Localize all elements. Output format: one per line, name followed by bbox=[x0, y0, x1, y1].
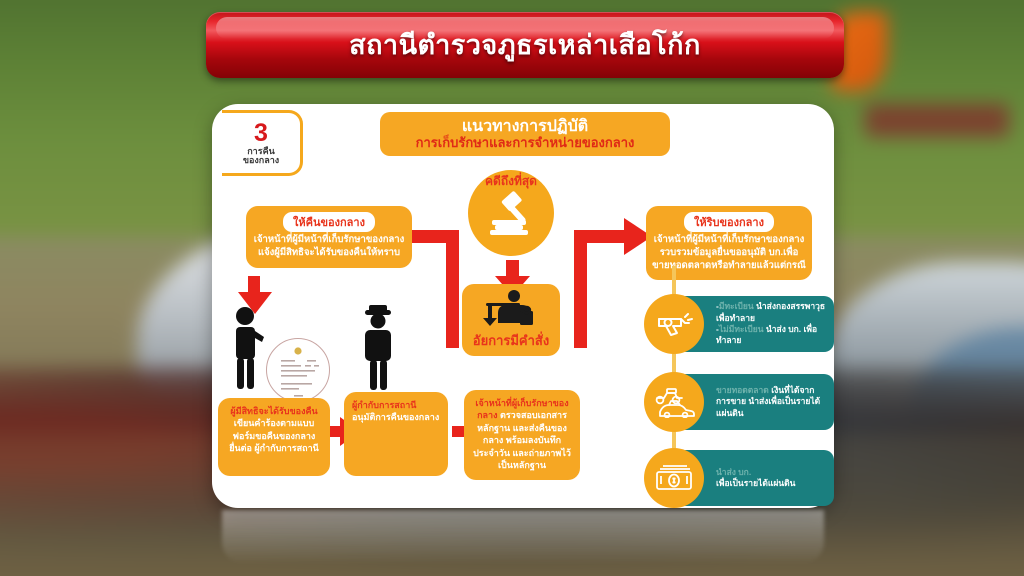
gun-icon bbox=[655, 309, 693, 339]
gavel-icon bbox=[483, 189, 539, 235]
police-officer-silhouette-icon bbox=[358, 305, 400, 391]
heading-line-2: การเก็บรักษาและการจำหน่ายของกลาง bbox=[416, 136, 635, 150]
process-box-request: ผู้มีสิทธิจะได้รับของคืน เขียนคำร้องตามแ… bbox=[218, 398, 330, 476]
request-form-document-icon bbox=[266, 338, 330, 402]
step-badge-line2: ของกลาง bbox=[243, 156, 279, 165]
disposal-destroy-line1-muted: มีทะเบียน bbox=[719, 301, 754, 311]
infographic-heading: แนวทางการปฏิบัติ การเก็บรักษาและการจำหน่… bbox=[380, 112, 670, 156]
case-final-label: คดีถึงที่สุด bbox=[485, 175, 537, 187]
disposal-destroy-line2-muted: ไม่มีทะเบียน bbox=[719, 324, 764, 334]
title-banner: สถานีตำรวจภูธรเหล่าเสือโก้ก bbox=[206, 12, 844, 78]
citizen-silhouette-icon bbox=[228, 305, 270, 391]
step-badge-number: 3 bbox=[254, 120, 268, 146]
disposal-auction-bubble bbox=[644, 372, 704, 432]
page-title: สถานีตำรวจภูธรเหล่าเสือโก้ก bbox=[349, 32, 701, 59]
outcome-forfeit-head: ให้ริบของกลาง bbox=[684, 212, 774, 232]
prosecutor-order-label: อัยการมีคำสั่ง bbox=[473, 330, 549, 351]
heading-line-1: แนวทางการปฏิบัติ bbox=[462, 118, 588, 136]
request-form-lines bbox=[267, 339, 329, 401]
disposal-destroy-line1: -มีทะเบียน นำส่งกองสรรพาวุธ เพื่อทำลาย bbox=[716, 301, 827, 324]
process-request-text: เขียนคำร้องตามแบบฟอร์มขอคืนของกลาง ยื่นต… bbox=[229, 418, 319, 453]
process-approve-emphasis: ผู้กำกับการสถานี bbox=[352, 400, 416, 410]
banknotes-icon bbox=[654, 463, 694, 493]
process-release-body: เจ้าหน้าที่ผู้เก็บรักษาของกลาง ตรวจสอบเอ… bbox=[472, 397, 572, 471]
disposal-destroy-line2: -ไม่มีทะเบียน นำส่ง บก. เพื่อทำลาย bbox=[716, 324, 827, 347]
process-box-release: เจ้าหน้าที่ผู้เก็บรักษาของกลาง ตรวจสอบเอ… bbox=[464, 390, 580, 480]
process-box-approve: ผู้กำกับการสถานี อนุมัติการคืนของกลาง bbox=[344, 392, 448, 476]
outcome-box-return: ให้คืนของกลาง เจ้าหน้าที่ผู้มีหน้าที่เก็… bbox=[246, 206, 412, 268]
prosecutor-order-box: อัยการมีคำสั่ง bbox=[462, 284, 560, 356]
vehicles-icon bbox=[653, 386, 695, 418]
outcome-box-forfeit: ให้ริบของกลาง เจ้าหน้าที่ผู้มีหน้าที่เก็… bbox=[646, 206, 812, 280]
disposal-destroy-bubble bbox=[644, 294, 704, 354]
process-request-body: ผู้มีสิทธิจะได้รับของคืน เขียนคำร้องตามแ… bbox=[226, 405, 322, 455]
judge-scales-icon bbox=[480, 289, 542, 329]
disposal-auction-muted: ขายทอดตลาด bbox=[716, 385, 769, 395]
step-badge: 3 การคืน ของกลาง bbox=[222, 110, 303, 176]
process-request-emphasis: ผู้มีสิทธิจะได้รับของคืน bbox=[230, 406, 317, 416]
outcome-return-body: เจ้าหน้าที่ผู้มีหน้าที่เก็บรักษาของกลางแ… bbox=[252, 234, 406, 260]
case-final-node: คดีถึงที่สุด bbox=[468, 170, 554, 256]
background-roof bbox=[865, 104, 1009, 137]
disposal-remit-muted: นำส่ง บก. bbox=[716, 467, 795, 478]
disposal-remit-main: เพื่อเป็นรายได้แผ่นดิน bbox=[716, 478, 795, 489]
process-approve-text: อนุมัติการคืนของกลาง bbox=[352, 412, 439, 422]
process-approve-body: ผู้กำกับการสถานี อนุมัติการคืนของกลาง bbox=[352, 399, 440, 424]
outcome-return-head: ให้คืนของกลาง bbox=[283, 212, 375, 232]
disposal-remit-bubble bbox=[644, 448, 704, 508]
